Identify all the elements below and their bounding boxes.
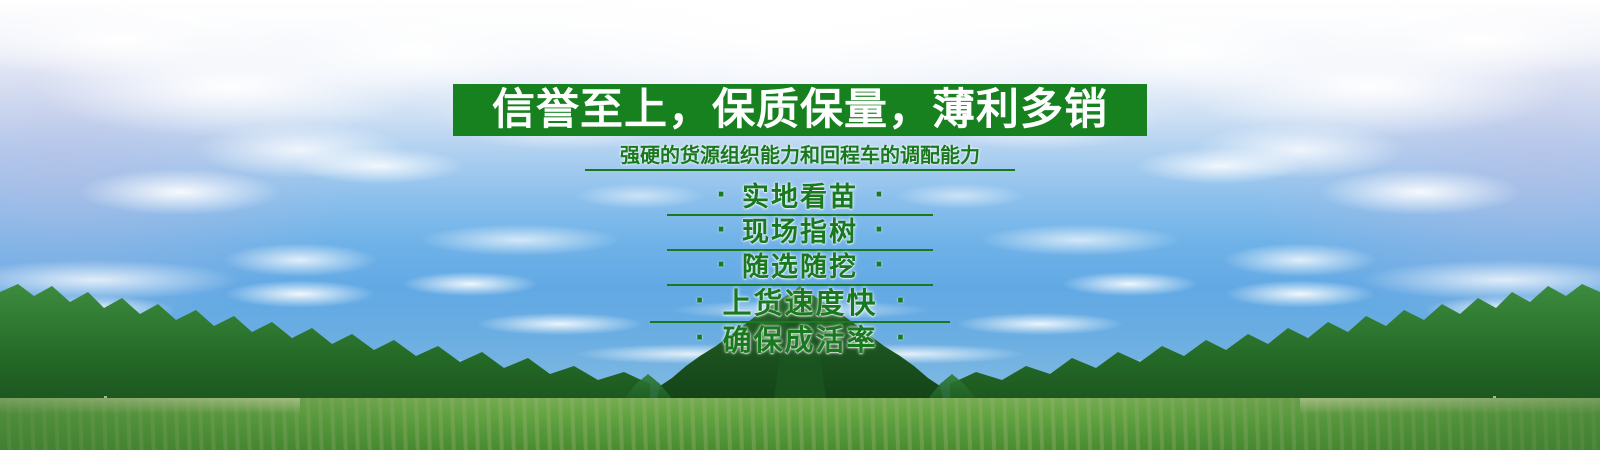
feature-item: · 上货速度快 · bbox=[590, 285, 1010, 322]
bullet-dot-icon: · bbox=[874, 217, 884, 243]
bullet-dot-icon: · bbox=[716, 182, 726, 208]
bullet-dot-icon: · bbox=[716, 252, 726, 278]
bullet-dot-icon: · bbox=[896, 325, 906, 351]
bullet-dot-icon: · bbox=[695, 288, 705, 314]
bullet-dot-icon: · bbox=[716, 217, 726, 243]
feature-label: 实地看苗 bbox=[742, 184, 858, 211]
feature-item: · 现场指树 · bbox=[590, 215, 1010, 250]
feature-item: · 随选随挖 · bbox=[590, 250, 1010, 285]
banner-content: 信誉至上，保质保量，薄利多销 强硬的货源组织能力和回程车的调配能力 · 实地看苗… bbox=[0, 0, 1600, 450]
headline-text: 信誉至上，保质保量，薄利多销 bbox=[492, 89, 1108, 132]
feature-label: 随选随挖 bbox=[742, 254, 858, 281]
feature-label: 上货速度快 bbox=[722, 289, 877, 318]
headline-banner: 信誉至上，保质保量，薄利多销 bbox=[453, 84, 1147, 136]
subtitle-text: 强硬的货源组织能力和回程车的调配能力 bbox=[585, 144, 1015, 166]
feature-label: 确保成活率 bbox=[722, 326, 877, 355]
bullet-dot-icon: · bbox=[896, 288, 906, 314]
feature-item: · 确保成活率 · bbox=[590, 322, 1010, 359]
subtitle-underline bbox=[585, 169, 1015, 171]
bullet-dot-icon: · bbox=[695, 325, 705, 351]
feature-item: · 实地看苗 · bbox=[590, 180, 1010, 215]
bullet-dot-icon: · bbox=[874, 182, 884, 208]
feature-label: 现场指树 bbox=[742, 219, 858, 246]
feature-list: · 实地看苗 · · 现场指树 · · 随选随挖 · · 上货速度快 · bbox=[590, 180, 1010, 359]
bullet-dot-icon: · bbox=[874, 252, 884, 278]
subtitle-block: 强硬的货源组织能力和回程车的调配能力 bbox=[585, 144, 1015, 171]
promotional-banner: 信誉至上，保质保量，薄利多销 强硬的货源组织能力和回程车的调配能力 · 实地看苗… bbox=[0, 0, 1600, 450]
